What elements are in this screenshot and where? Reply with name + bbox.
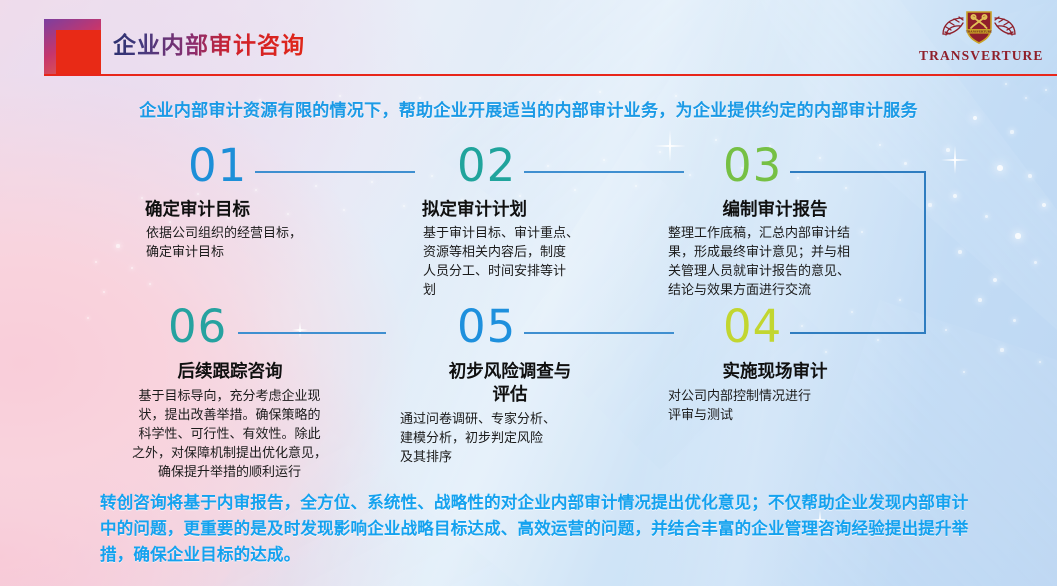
- brand-logo-text: TRANSVERTURE: [919, 49, 1039, 63]
- step-desc-06: 基于目标导向，充分考虑企业现 状，提出改善举措。确保策略的 科学性、可行性、有效…: [107, 386, 352, 481]
- step-desc-05: 通过问卷调研、专家分析、 建模分析，初步判定风险 及其排序: [400, 409, 615, 466]
- slide-header: 企业内部审计咨询: [0, 0, 1057, 80]
- header-red-square: [56, 30, 101, 75]
- step-title-06: 后续跟踪咨询: [110, 360, 350, 383]
- step-number-05: 05: [457, 304, 516, 349]
- step-04-line-extension: [790, 332, 926, 334]
- step-desc-02: 基于审计目标、审计重点、 资源等相关内容后，制度 人员分工、时间安排等计 划: [423, 223, 628, 299]
- step-number-02: 02: [457, 143, 516, 188]
- step-line-01: [255, 171, 415, 173]
- header-divider: [44, 74, 1057, 76]
- step-line-02: [524, 171, 684, 173]
- page-title: 企业内部审计咨询: [113, 26, 305, 60]
- brand-logo: TRANSVERTURE TRANSVERTURE: [919, 8, 1039, 70]
- step-desc-03: 整理工作底稿，汇总内部审计结 果，形成最终审计意见；并与相 关管理人员就审计报告…: [668, 223, 903, 299]
- step-title-03: 编制审计报告: [655, 198, 895, 221]
- step-line-06: [238, 332, 386, 334]
- svg-text:TRANSVERTURE: TRANSVERTURE: [966, 30, 992, 34]
- slide-subtitle: 企业内部审计资源有限的情况下，帮助企业开展适当的内部审计业务，为企业提供约定的内…: [0, 96, 1057, 121]
- step-desc-01: 依据公司组织的经营目标， 确定审计目标: [146, 223, 361, 261]
- step-title-04: 实施现场审计: [660, 360, 890, 383]
- step-line-03: [790, 171, 926, 173]
- step-line-05: [524, 332, 674, 334]
- step-number-06: 06: [168, 304, 227, 349]
- summary-paragraph: 转创咨询将基于内审报告，全方位、系统性、战略性的对企业内部审计情况提出优化意见；…: [100, 490, 980, 568]
- step-title-02: 拟定审计计划: [422, 198, 662, 221]
- step-title-05: 初步风险调查与 评估: [400, 360, 620, 406]
- step-03-to-04-connector: [924, 171, 926, 334]
- step-number-01: 01: [188, 143, 247, 188]
- crest-keys-laurel-icon: TRANSVERTURE: [919, 8, 1039, 46]
- step-title-01: 确定审计目标: [145, 198, 385, 221]
- step-number-04: 04: [723, 304, 782, 349]
- step-desc-04: 对公司内部控制情况进行 评审与测试: [668, 386, 883, 424]
- slide-canvas: 企业内部审计咨询 TRANSVERTURE TRANSVERTURE: [0, 0, 1057, 586]
- step-number-03: 03: [723, 143, 782, 188]
